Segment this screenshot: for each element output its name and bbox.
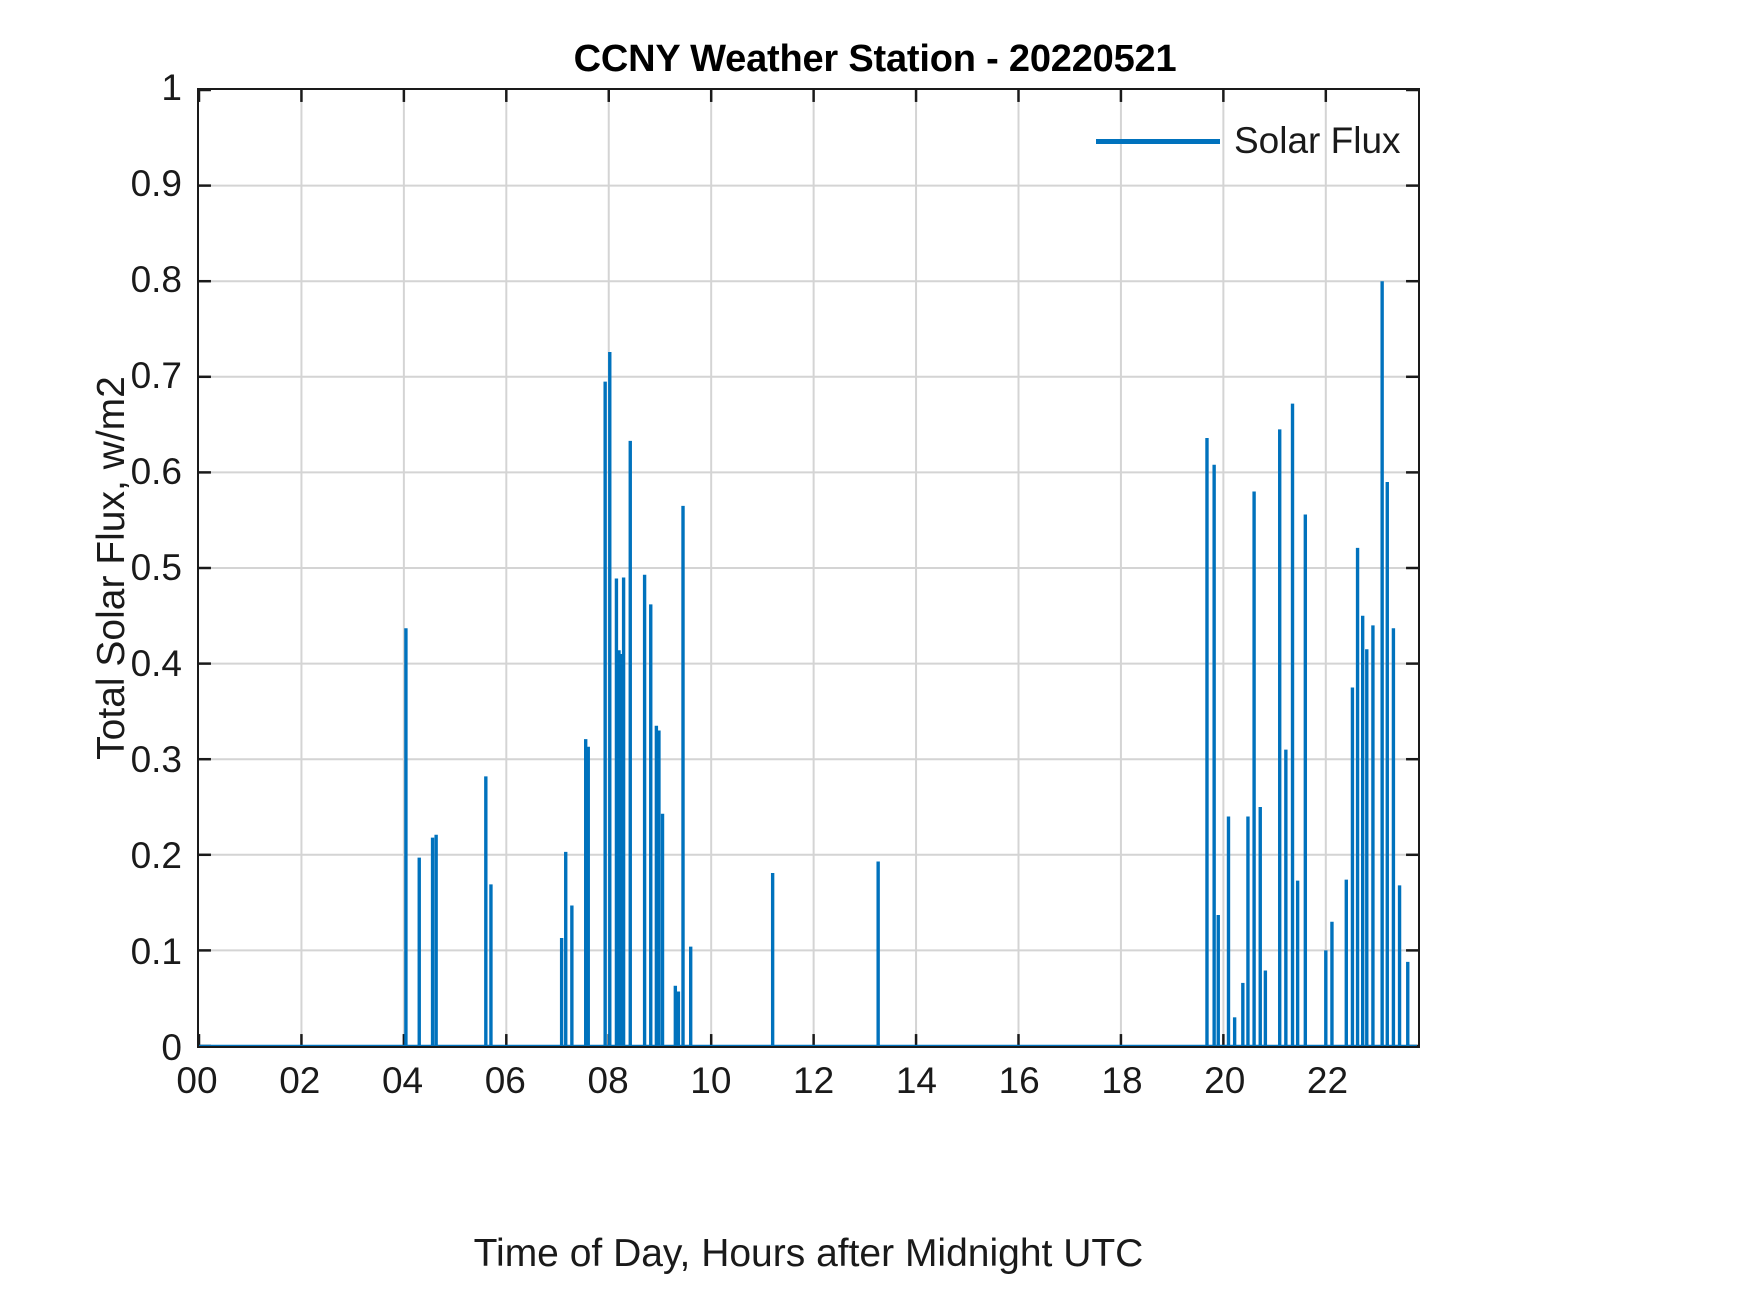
x-tick-label: 08: [588, 1060, 629, 1102]
x-axis-tick-labels: 000204060810121416182022: [197, 1060, 1420, 1116]
chart-title: CCNY Weather Station - 20220521: [0, 38, 1750, 81]
x-tick-label: 14: [896, 1060, 937, 1102]
x-tick-label: 10: [690, 1060, 731, 1102]
x-axis-label: Time of Day, Hours after Midnight UTC: [197, 1232, 1420, 1276]
x-tick-label: 20: [1204, 1060, 1245, 1102]
legend-line-swatch: [1096, 139, 1220, 144]
x-tick-label: 18: [1101, 1060, 1142, 1102]
x-tick-label: 02: [279, 1060, 320, 1102]
legend: Solar Flux: [1090, 118, 1407, 164]
figure-canvas: CCNY Weather Station - 20220521 00.10.20…: [0, 0, 1750, 1313]
x-tick-label: 12: [793, 1060, 834, 1102]
plot-area: [197, 88, 1420, 1048]
legend-label-solar-flux: Solar Flux: [1234, 120, 1401, 162]
solar-flux-series: [199, 90, 1418, 1046]
x-tick-label: 04: [382, 1060, 423, 1102]
x-tick-label: 22: [1307, 1060, 1348, 1102]
x-tick-label: 06: [485, 1060, 526, 1102]
y-tick-label: 1: [161, 67, 182, 109]
x-tick-label: 16: [999, 1060, 1040, 1102]
x-tick-label: 00: [176, 1060, 217, 1102]
y-axis-label: Total Solar Flux, w/m2: [82, 88, 142, 1048]
